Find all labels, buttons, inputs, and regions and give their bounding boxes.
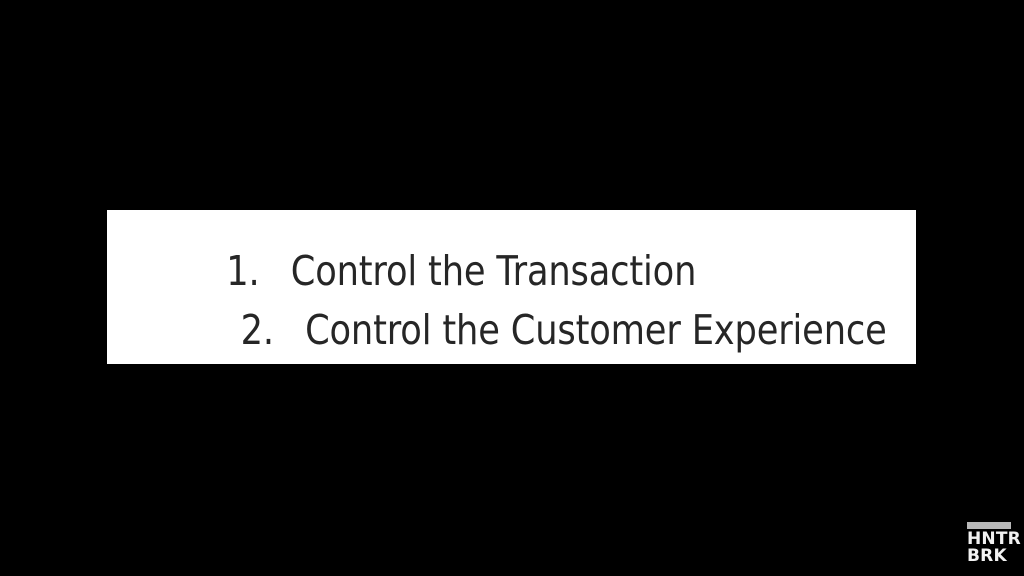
watermark-logo: HNTR BRK (967, 522, 1013, 564)
list-item: 2. Control the Customer Experience (241, 310, 887, 351)
list-item-label: Control the Customer Experience (305, 310, 887, 351)
list-item: 1. Control the Transaction (226, 251, 696, 292)
slide-card: 1. Control the Transaction 2. Control th… (107, 210, 916, 364)
list-item-marker: 1. (226, 251, 291, 292)
watermark-bar (967, 522, 1011, 529)
list-item-marker: 2. (241, 310, 306, 351)
list-item-label: Control the Transaction (291, 251, 697, 292)
watermark-line-2: BRK (967, 548, 1013, 564)
video-frame: 1. Control the Transaction 2. Control th… (0, 0, 1024, 576)
